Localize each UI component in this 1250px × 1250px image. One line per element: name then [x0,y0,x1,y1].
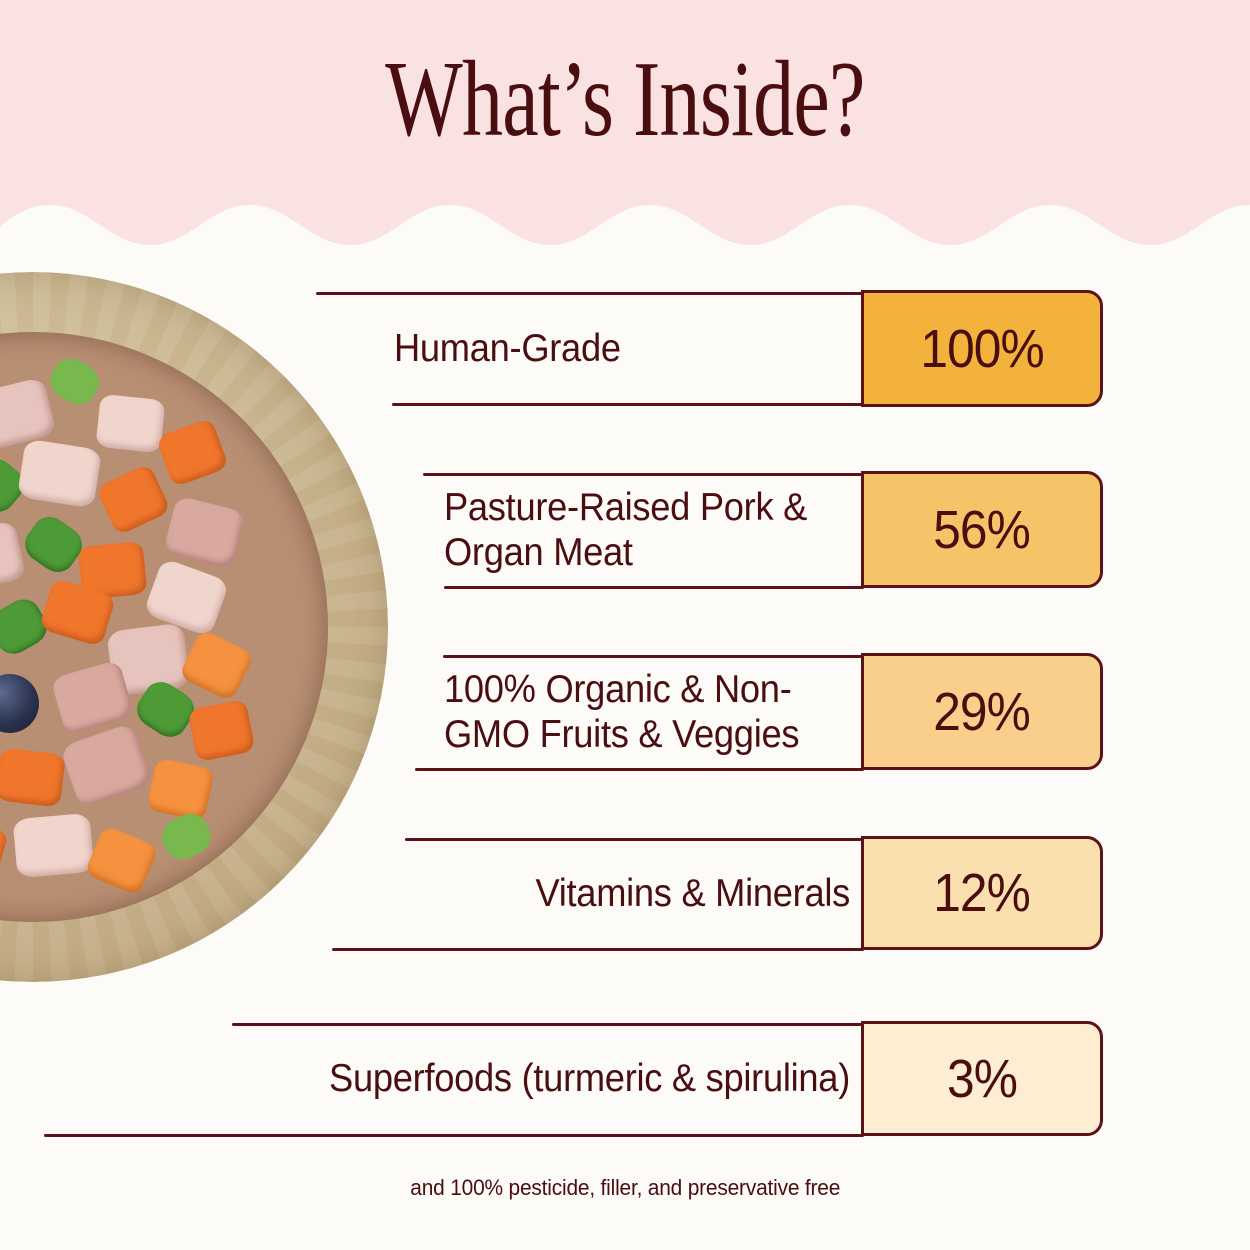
bar-label-human-grade: Human-Grade [394,292,822,405]
bar-value-text-4: 12% [934,862,1031,924]
bar-value-vitamins-minerals: 12% [861,836,1103,950]
row-bottom-rule-3 [415,768,864,771]
footnote: and 100% pesticide, filler, and preserva… [0,1175,1250,1201]
bar-value-pasture-raised-pork: 56% [861,471,1103,588]
bar-label-organic-non-gmo: 100% Organic & Non- GMO Fruits & Veggies [444,655,825,768]
bar-label-superfoods: Superfoods (turmeric & spirulina) [232,1023,850,1134]
row-bottom-rule-2 [444,586,864,589]
row-bottom-rule-5 [44,1134,864,1137]
row-bottom-rule-4 [332,948,864,951]
bar-label-vitamins-minerals: Vitamins & Minerals [435,838,850,948]
bar-value-text-3: 29% [934,681,1031,743]
bar-value-text-2: 56% [934,499,1031,561]
footnote-text: and 100% pesticide, filler, and preserva… [410,1175,840,1201]
bar-label-pasture-raised-pork: Pasture-Raised Pork & Organ Meat [444,473,825,586]
bar-value-text-5: 3% [947,1048,1017,1110]
infographic-canvas: What’s Inside? [0,0,1250,1250]
bar-value-text-1: 100% [920,318,1043,380]
bar-value-superfoods: 3% [861,1021,1103,1136]
bar-value-human-grade: 100% [861,290,1103,407]
bar-value-organic-non-gmo: 29% [861,653,1103,770]
ingredient-bar-chart: Human-Grade 100% Pasture-Raised Pork & O… [0,0,1250,1250]
